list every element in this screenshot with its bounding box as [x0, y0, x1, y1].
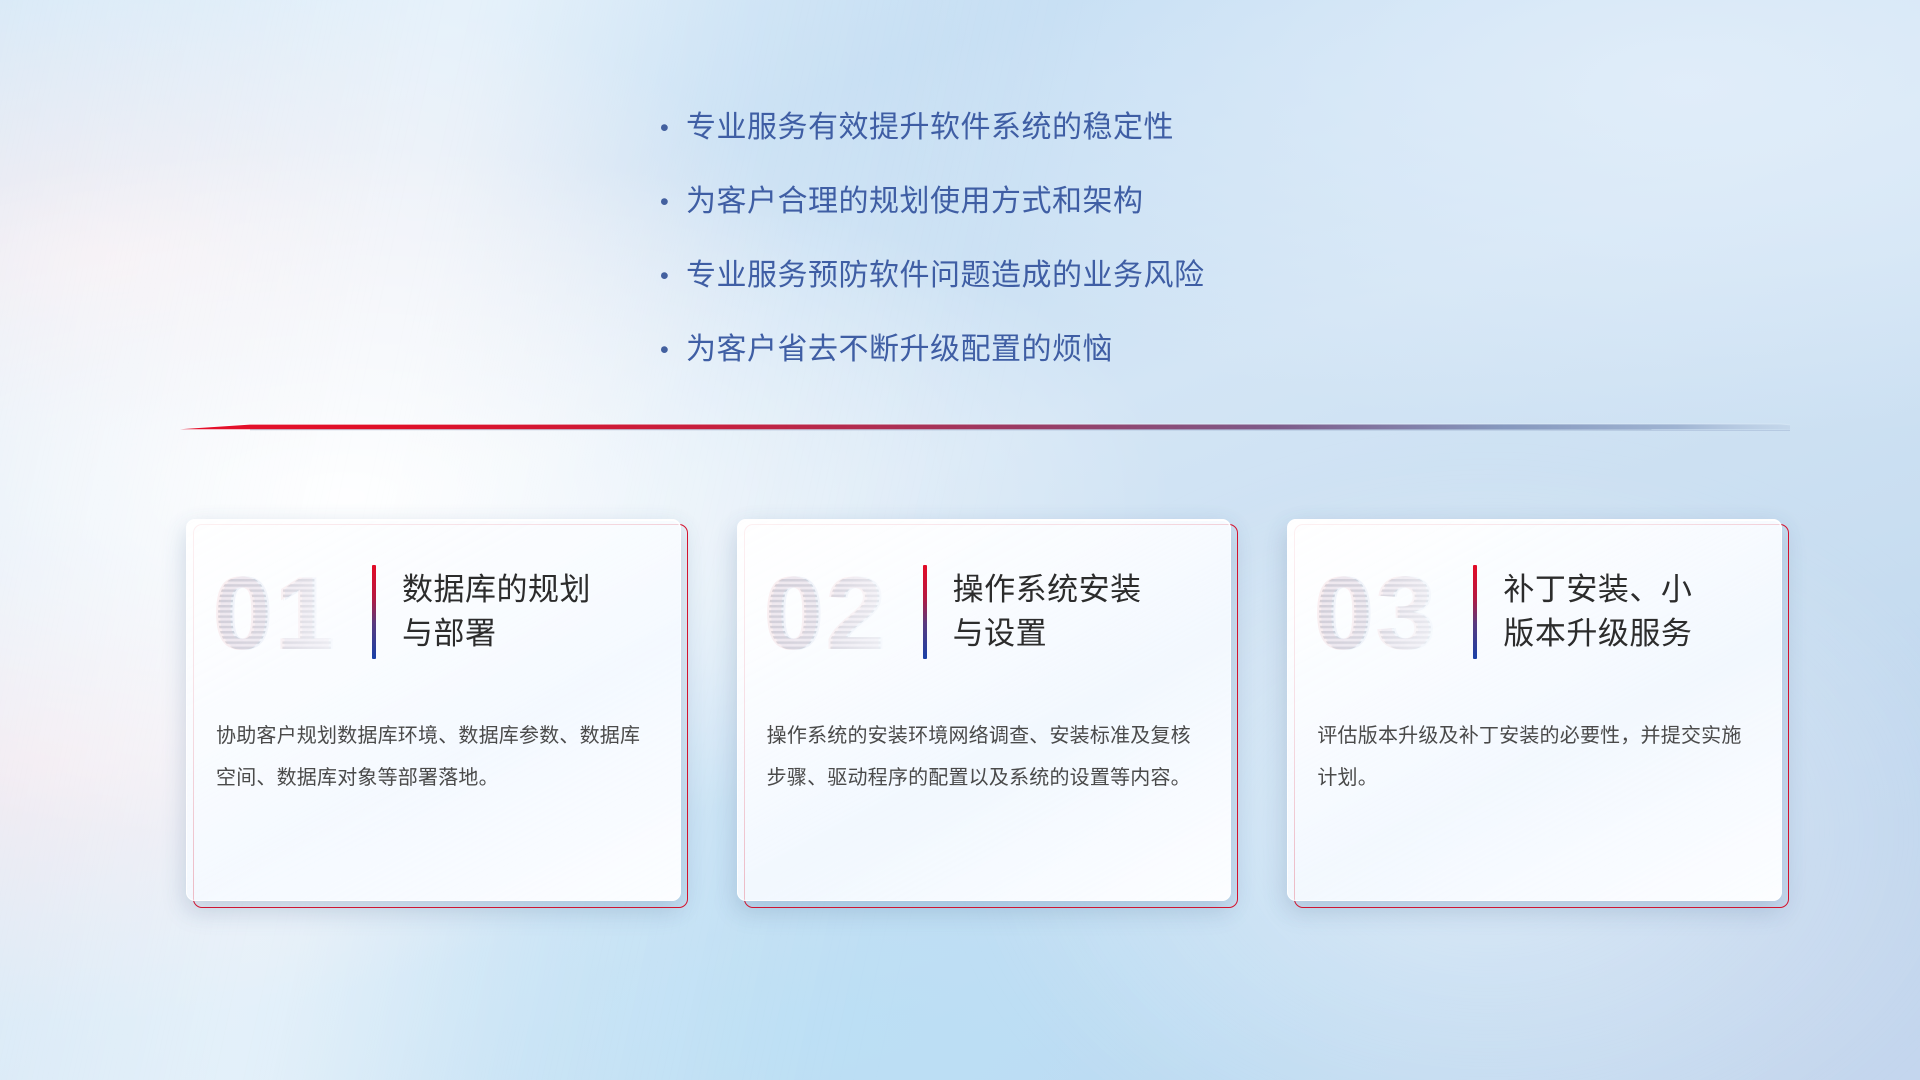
list-item: • 为客户省去不断升级配置的烦恼 — [660, 328, 1420, 372]
benefits-bullet-list: • 专业服务有效提升软件系统的稳定性 • 为客户合理的规划使用方式和架构 • 专… — [660, 106, 1420, 402]
bullet-dot-icon: • — [660, 328, 686, 372]
card-accent-bar — [1473, 565, 1477, 659]
divider-line-icon — [180, 416, 1790, 438]
bullet-label: 专业服务预防软件问题造成的业务风险 — [686, 254, 1205, 298]
bullet-dot-icon: • — [660, 254, 686, 298]
card-description: 协助客户规划数据库环境、数据库参数、数据库空间、数据库对象等部署落地。 — [216, 715, 655, 799]
card-title: 数据库的规划 与部署 — [402, 568, 607, 656]
svg-text:02: 02 — [767, 556, 891, 671]
card-number-ghost: 03 03 03 — [1313, 553, 1465, 671]
bullet-label: 为客户合理的规划使用方式和架构 — [686, 180, 1144, 224]
svg-text:01: 01 — [216, 556, 340, 671]
card-title: 补丁安装、小 版本升级服务 — [1503, 568, 1708, 656]
card-number-ghost: 01 01 01 — [212, 553, 364, 671]
scanline-number-icon: 03 03 03 — [1313, 553, 1465, 671]
list-item: • 专业服务预防软件问题造成的业务风险 — [660, 254, 1420, 298]
service-card[interactable]: 02 02 02 操作系统安装 与设置 操作系统的安装环境网络调查、安装标准及复… — [737, 519, 1232, 901]
card-header: 01 01 01 数据库的规划 与部署 — [186, 545, 681, 679]
card-description: 评估版本升级及补丁安装的必要性，并提交实施计划。 — [1317, 715, 1756, 799]
scanline-number-icon: 01 01 01 — [212, 553, 364, 671]
service-card[interactable]: 01 01 01 数据库的规划 与部署 协助客户规划数据库环境、数据库参数、数据… — [186, 519, 681, 901]
card-accent-bar — [923, 565, 927, 659]
bullet-dot-icon: • — [660, 180, 686, 224]
service-card-row: 01 01 01 数据库的规划 与部署 协助客户规划数据库环境、数据库参数、数据… — [186, 519, 1782, 915]
bullet-label: 专业服务有效提升软件系统的稳定性 — [686, 106, 1174, 150]
list-item: • 专业服务有效提升软件系统的稳定性 — [660, 106, 1420, 150]
scanline-number-icon: 02 02 02 — [763, 553, 915, 671]
bullet-label: 为客户省去不断升级配置的烦恼 — [686, 328, 1113, 372]
list-item: • 为客户合理的规划使用方式和架构 — [660, 180, 1420, 224]
card-header: 03 03 03 补丁安装、小 版本升级服务 — [1287, 545, 1782, 679]
slide-canvas: • 专业服务有效提升软件系统的稳定性 • 为客户合理的规划使用方式和架构 • 专… — [0, 0, 1920, 1080]
svg-text:03: 03 — [1317, 556, 1441, 671]
service-card[interactable]: 03 03 03 补丁安装、小 版本升级服务 评估版本升级及补丁安装的必要性，并… — [1287, 519, 1782, 901]
card-number-ghost: 02 02 02 — [763, 553, 915, 671]
card-accent-bar — [372, 565, 376, 659]
card-title: 操作系统安装 与设置 — [953, 568, 1158, 656]
card-header: 02 02 02 操作系统安装 与设置 — [737, 545, 1232, 679]
card-description: 操作系统的安装环境网络调查、安装标准及复核步骤、驱动程序的配置以及系统的设置等内… — [767, 715, 1206, 799]
section-divider — [180, 416, 1790, 438]
bullet-dot-icon: • — [660, 106, 686, 150]
